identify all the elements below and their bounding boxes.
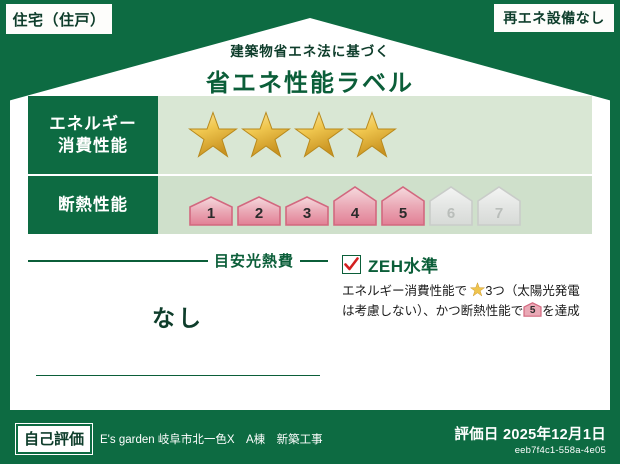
insulation-grade-7: 7 <box>476 186 522 226</box>
project-description: E's garden 岐阜市北一色X A棟 新築工事 <box>100 431 454 447</box>
row-energy-label-line1: エネルギー <box>49 113 137 135</box>
star-rating <box>188 111 397 159</box>
zeh-title: ZEH水準 <box>368 252 439 277</box>
zeh-block: ZEH水準 エネルギー消費性能で 3つ（太陽光発電 は考慮しない）、かつ断熱性能… <box>328 250 592 390</box>
insulation-grade-badge: 5 <box>523 302 542 317</box>
label-subtitle: 建築物省エネ法に基づく <box>0 40 620 60</box>
zeh-heading: ZEH水準 <box>342 252 592 277</box>
footer: 自己評価 E's garden 岐阜市北一色X A棟 新築工事 評価日 2025… <box>0 414 620 464</box>
zeh-desc-part3: は考慮しない）、かつ断熱性能で <box>342 304 523 318</box>
badge-building-type: 住宅（住戸） <box>6 4 112 34</box>
row-insulation-label: 断熱性能 <box>28 176 158 234</box>
insulation-grade-4-number: 4 <box>351 205 359 226</box>
star-icon <box>347 111 397 159</box>
heading-rule-left <box>28 260 208 262</box>
star-icon <box>241 111 291 159</box>
badge-renewable-energy: 再エネ設備なし <box>494 4 614 32</box>
utility-cost-block: 目安光熱費 なし <box>28 250 328 390</box>
lower-section: 目安光熱費 なし ZEH水準 エネルギー消費性能で <box>28 250 592 390</box>
insulation-grade-5: 5 <box>380 186 426 226</box>
star-icon <box>294 111 344 159</box>
insulation-grade-6-number: 6 <box>447 205 455 226</box>
zeh-checkbox[interactable] <box>342 255 361 274</box>
zeh-desc-part2: 3つ（太陽光発電 <box>485 284 579 298</box>
insulation-grade-1-number: 1 <box>207 205 215 226</box>
insulation-grade-badge-number: 5 <box>523 303 542 319</box>
evaluation-info: 評価日 2025年12月1日 eeb7f4c1-558a-4e05 <box>454 423 606 456</box>
evaluation-date: 評価日 2025年12月1日 <box>454 423 606 444</box>
heading-rule-right <box>300 260 328 262</box>
insulation-grade-1: 1 <box>188 196 234 226</box>
zeh-desc-part4: を達成 <box>542 304 579 318</box>
row-energy-performance: エネルギー 消費性能 <box>28 96 592 174</box>
row-insulation-value: 1 2 3 <box>158 176 592 234</box>
checkmark-icon <box>344 257 359 272</box>
self-evaluation-badge: 自己評価 <box>16 424 92 454</box>
row-energy-value <box>158 96 592 174</box>
row-insulation-performance: 断熱性能 <box>28 176 592 234</box>
utility-cost-value: なし <box>28 299 328 333</box>
star-icon <box>470 282 485 297</box>
energy-label-card: 住宅（住戸） 再エネ設備なし 建築物省エネ法に基づく 省エネ性能ラベル エネルギ… <box>0 0 620 464</box>
insulation-grade-3: 3 <box>284 196 330 226</box>
utility-cost-heading: 目安光熱費 <box>28 250 328 271</box>
row-energy-label: エネルギー 消費性能 <box>28 96 158 174</box>
label-content: エネルギー 消費性能 <box>28 96 592 401</box>
insulation-grade-2: 2 <box>236 196 282 226</box>
insulation-grade-6: 6 <box>428 186 474 226</box>
zeh-desc-part1: エネルギー消費性能で <box>342 284 467 298</box>
page-title: 省エネ性能ラベル <box>0 63 620 98</box>
label-title-block: 建築物省エネ法に基づく 省エネ性能ラベル <box>0 40 620 98</box>
insulation-grade-4: 4 <box>332 186 378 226</box>
utility-cost-divider <box>36 375 320 377</box>
zeh-description: エネルギー消費性能で 3つ（太陽光発電 は考慮しない）、かつ断熱性能で 5 を達… <box>342 282 592 321</box>
insulation-grade-scale: 1 2 3 <box>188 184 522 226</box>
insulation-grade-7-number: 7 <box>495 205 503 226</box>
row-energy-label-line2: 消費性能 <box>58 135 128 157</box>
insulation-grade-2-number: 2 <box>255 205 263 226</box>
insulation-grade-5-number: 5 <box>399 205 407 226</box>
utility-cost-heading-text: 目安光熱費 <box>214 250 294 271</box>
insulation-grade-3-number: 3 <box>303 205 311 226</box>
evaluation-id: eeb7f4c1-558a-4e05 <box>454 445 606 456</box>
star-icon <box>188 111 238 159</box>
